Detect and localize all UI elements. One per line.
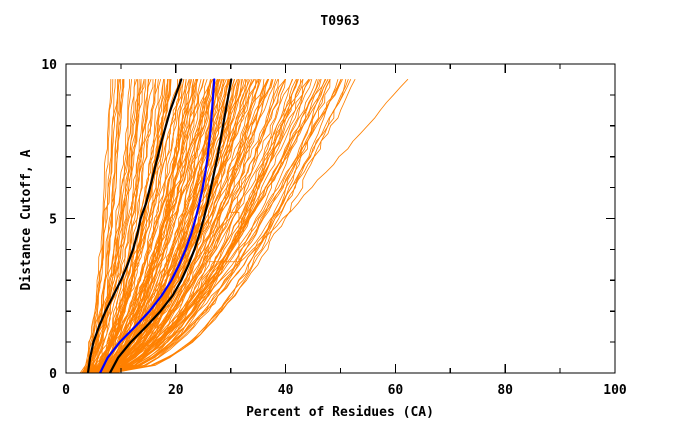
x-tick-label: 20 [168,383,184,398]
y-axis-label: Distance Cutoff, A [19,149,34,290]
chart-page: T0963 0204060801000510 Percent of Residu… [0,0,680,440]
prediction-curves-group [80,79,408,373]
y-tick-label: 5 [49,213,57,228]
x-tick-label: 80 [497,383,513,398]
plot-area: 0204060801000510 Percent of Residues (CA… [0,0,680,440]
x-axis-label: Percent of Residues (CA) [246,405,434,420]
x-tick-label: 0 [62,383,70,398]
x-tick-label: 40 [278,383,294,398]
x-tick-label: 60 [388,383,404,398]
prediction-curve [80,79,111,373]
y-tick-label: 10 [41,58,57,73]
x-tick-label: 100 [603,383,627,398]
y-tick-label: 0 [49,367,57,382]
